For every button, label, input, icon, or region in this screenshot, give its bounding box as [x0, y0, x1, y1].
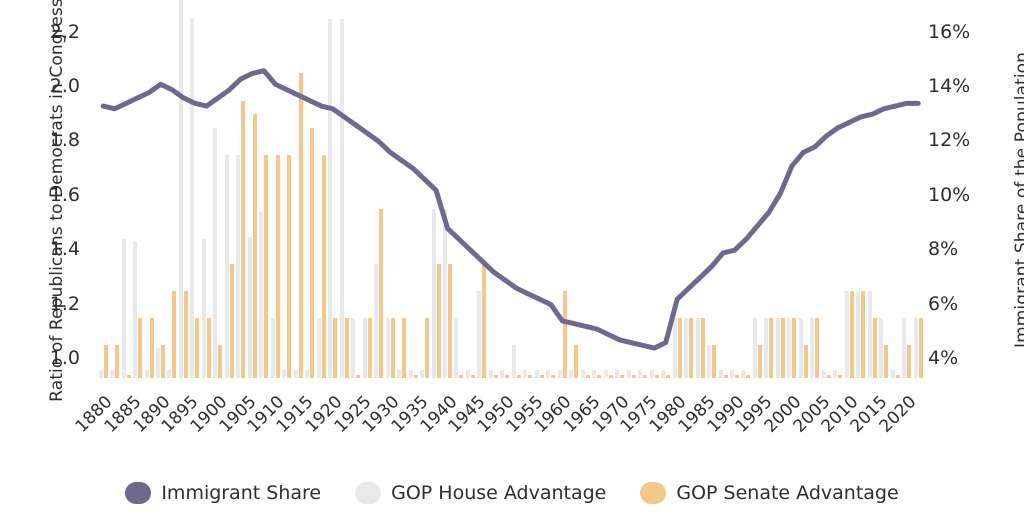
y-tick-left-1.4: 1.4 [20, 240, 80, 259]
y-tick-left-2.0: 2.0 [20, 77, 80, 96]
y-tick-right-16%: 16% [928, 23, 988, 42]
y-tick-left-2.2: 2.2 [20, 23, 80, 42]
legend-swatch-icon [640, 482, 666, 504]
y-tick-right-8%: 8% [928, 240, 988, 259]
y-tick-left-1.0: 1.0 [20, 349, 80, 368]
plot-area [86, 0, 924, 378]
immigrant-share-line [103, 71, 918, 348]
y-tick-right-6%: 6% [928, 295, 988, 314]
legend-label: GOP House Advantage [391, 482, 606, 504]
legend-swatch-icon [355, 482, 381, 504]
y-tick-left-1.6: 1.6 [20, 186, 80, 205]
legend-label: GOP Senate Advantage [676, 482, 898, 504]
legend-item-gop-senate-advantage[interactable]: GOP Senate Advantage [640, 482, 898, 504]
legend-label: Immigrant Share [161, 482, 321, 504]
chart-legend: Immigrant ShareGOP House AdvantageGOP Se… [0, 482, 1024, 504]
y-axis-right-title: Immigrant Share of the Population [1012, 0, 1024, 410]
y-tick-right-4%: 4% [928, 349, 988, 368]
y-tick-right-14%: 14% [928, 77, 988, 96]
line-layer [86, 0, 924, 378]
legend-item-gop-house-advantage[interactable]: GOP House Advantage [355, 482, 606, 504]
y-tick-left-1.2: 1.2 [20, 295, 80, 314]
y-tick-right-10%: 10% [928, 186, 988, 205]
y-tick-right-12%: 12% [928, 131, 988, 150]
legend-swatch-icon [125, 482, 151, 504]
y-tick-left-1.8: 1.8 [20, 131, 80, 150]
legend-item-immigrant-share[interactable]: Immigrant Share [125, 482, 321, 504]
immigration-congress-chart: Ratio of Republicans to Democrats in Con… [0, 0, 1024, 512]
